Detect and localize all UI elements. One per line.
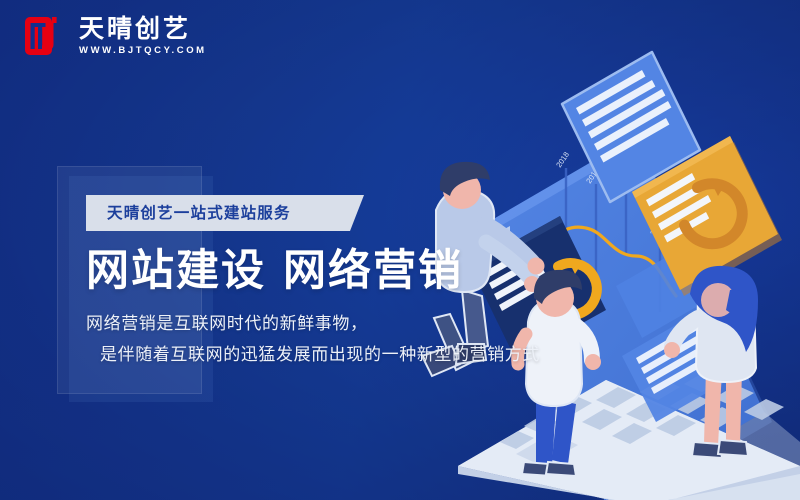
brand-name: 天晴创艺 — [79, 16, 207, 41]
tqcy-square-logo-icon — [24, 14, 68, 58]
brand-website: WWW.BJTQCY.COM — [79, 45, 207, 56]
hero-copy: 天晴创艺一站式建站服务 网站建设 网络营销 网络营销是互联网时代的新鲜事物， 是… — [86, 195, 540, 371]
svg-text:2018: 2018 — [554, 150, 571, 169]
eyebrow-label: 天晴创艺一站式建站服务 — [107, 195, 291, 231]
description-line-1: 网络营销是互联网时代的新鲜事物， — [86, 309, 540, 340]
hero-eyebrow: 天晴创艺一站式建站服务 — [86, 195, 364, 231]
description-line-2: 是伴随着互联网的迅猛发展而出现的一种新型的营销方式 — [86, 340, 540, 371]
hero-description: 网络营销是互联网时代的新鲜事物， 是伴随着互联网的迅猛发展而出现的一种新型的营销… — [86, 309, 540, 371]
hero-headline: 网站建设 网络营销 — [86, 245, 540, 297]
banner-stage: 天晴创艺 WWW.BJTQCY.COM 天晴创艺一站式建站服务 网站建设 网络营… — [0, 0, 800, 500]
brand-logo[interactable]: 天晴创艺 WWW.BJTQCY.COM — [24, 14, 207, 58]
